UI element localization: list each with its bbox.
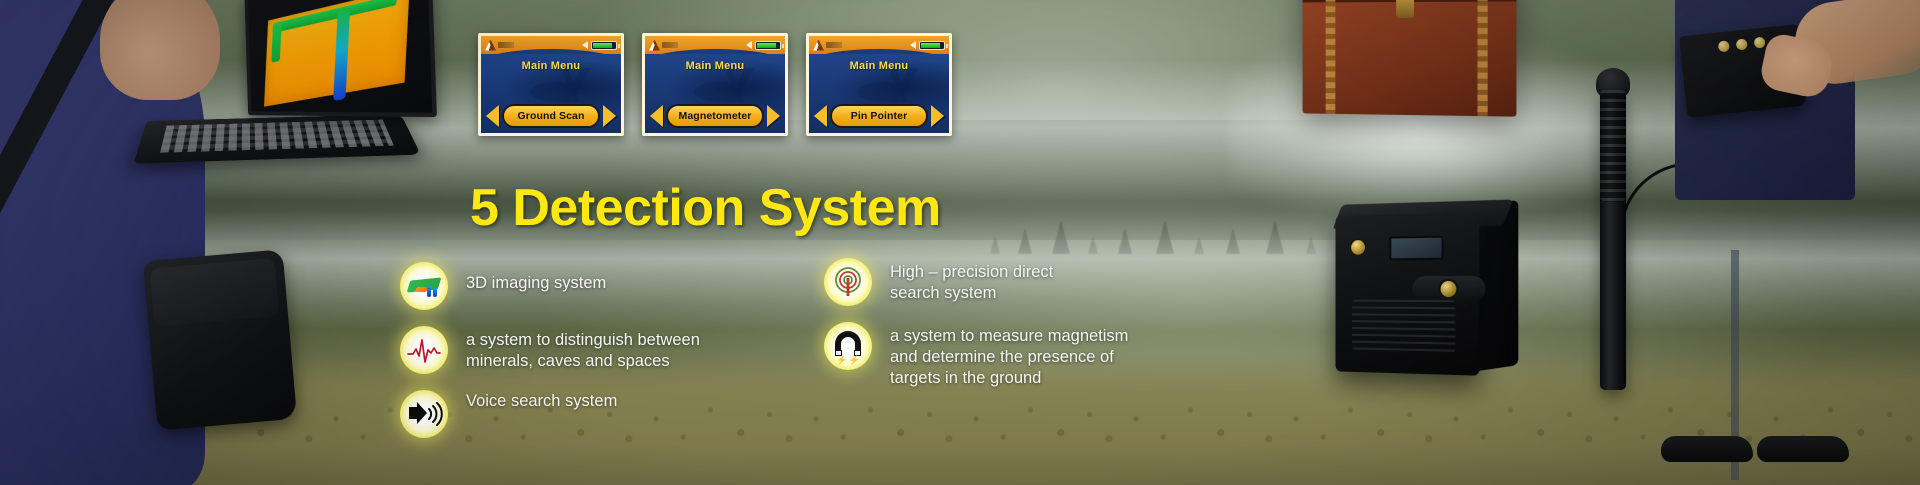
page-title: 5 Detection System (470, 178, 1070, 238)
menu-panel-group: Main Menu Ground Scan (478, 33, 952, 136)
menu-title: Main Menu (809, 54, 949, 72)
prev-arrow-icon[interactable] (650, 105, 663, 127)
menu-background-art (529, 68, 615, 102)
feature-label: Voice search system (466, 390, 617, 412)
menu-mode-selector[interactable]: Magnetometer (645, 104, 785, 128)
control-unit-knob (1754, 37, 1766, 49)
laptop-screen (244, 0, 437, 117)
speaker-icon (582, 41, 588, 49)
next-arrow-icon[interactable] (603, 105, 616, 127)
menu-title: Main Menu (481, 54, 621, 72)
waveform-icon (400, 326, 448, 374)
next-arrow-icon[interactable] (767, 105, 780, 127)
magnet-icon: ⚡⚡ (824, 322, 872, 370)
operator-right-shoe-left (1661, 436, 1753, 462)
feature-item-voice-search: Voice search system (400, 390, 820, 438)
menu-background-art (693, 68, 779, 102)
feature-list-left: 3D imaging system a system to distinguis… (400, 262, 820, 454)
operator-right-shoe-right (1757, 436, 1849, 462)
laptop-keyboard (160, 120, 394, 153)
status-cluster (910, 41, 945, 50)
logo-wordmark (662, 42, 678, 48)
speaker-icon (400, 390, 448, 438)
battery-icon (591, 41, 617, 50)
menu-panel-magnetometer[interactable]: Main Menu Magnetometer (642, 33, 788, 136)
detector-control-case (1336, 197, 1516, 378)
menu-mode-button[interactable]: Pin Pointer (830, 104, 928, 128)
feature-label: a system to distinguish between minerals… (466, 326, 700, 372)
feature-label: a system to measure magnetism and determ… (890, 322, 1128, 389)
chest-band-left (1326, 0, 1336, 114)
prev-arrow-icon[interactable] (814, 105, 827, 127)
logo-wordmark (498, 42, 514, 48)
detector-connector-panel (1412, 276, 1485, 303)
menu-title: Main Menu (645, 54, 785, 72)
chest-lock (1396, 0, 1414, 18)
menu-topbar (809, 36, 949, 54)
menu-mode-selector[interactable]: Pin Pointer (809, 104, 949, 128)
logo-mark (649, 40, 660, 51)
signal-target-icon (824, 258, 872, 306)
promo-banner: Main Menu Ground Scan (0, 0, 1920, 485)
detector-grille (1352, 300, 1455, 353)
feature-label: High – precision direct search system (890, 258, 1053, 304)
laptop-base (134, 114, 421, 163)
probe-grip (1600, 90, 1626, 202)
status-cluster (746, 41, 781, 50)
prev-arrow-icon[interactable] (486, 105, 499, 127)
laptop (140, 0, 440, 178)
menu-body: Main Menu Ground Scan (481, 54, 621, 136)
menu-panel-pin-pointer[interactable]: Main Menu Pin Pointer (806, 33, 952, 136)
detector-knob-left (1350, 239, 1366, 256)
detector-display (1389, 236, 1443, 261)
feature-item-magnetism: ⚡⚡ a system to measure magnetism and det… (824, 322, 1294, 389)
chest-band-right (1477, 0, 1487, 116)
speaker-icon (910, 41, 916, 49)
logo-mark (813, 40, 824, 51)
treasure-chest (1303, 0, 1517, 117)
menu-mode-button[interactable]: Ground Scan (502, 104, 600, 128)
scan-3d-visualization (264, 0, 410, 107)
status-cluster (582, 41, 617, 50)
brand-logo-icon (485, 39, 515, 51)
detector-front-panel (1336, 213, 1480, 376)
operator-right (1645, 0, 1920, 485)
menu-topbar (645, 36, 785, 54)
menu-mode-button[interactable]: Magnetometer (666, 104, 764, 128)
menu-panel-ground-scan[interactable]: Main Menu Ground Scan (478, 33, 624, 136)
shoulder-bag-flap (150, 258, 280, 327)
logo-wordmark (826, 42, 842, 48)
menu-topbar (481, 36, 621, 54)
speaker-icon (746, 41, 752, 49)
pin-pointer-probe (1600, 90, 1626, 390)
battery-icon (755, 41, 781, 50)
menu-mode-selector[interactable]: Ground Scan (481, 104, 621, 128)
menu-body: Main Menu Magnetometer (645, 54, 785, 136)
logo-mark (485, 40, 496, 51)
menu-background-art (857, 68, 943, 102)
next-arrow-icon[interactable] (931, 105, 944, 127)
feature-item-mineral-discrimination: a system to distinguish between minerals… (400, 326, 820, 374)
feature-list-right: High – precision direct search system ⚡⚡… (824, 258, 1294, 405)
brand-logo-icon (813, 39, 843, 51)
detector-connector (1439, 279, 1459, 299)
3d-scan-icon (400, 262, 448, 310)
brand-logo-icon (649, 39, 679, 51)
control-unit-knob (1718, 40, 1730, 52)
menu-body: Main Menu Pin Pointer (809, 54, 949, 136)
control-unit-knob (1736, 38, 1748, 50)
feature-item-3d-imaging: 3D imaging system (400, 262, 820, 310)
shoulder-bag (143, 249, 297, 431)
feature-item-direct-search: High – precision direct search system (824, 258, 1294, 306)
battery-icon (919, 41, 945, 50)
feature-label: 3D imaging system (466, 262, 606, 294)
